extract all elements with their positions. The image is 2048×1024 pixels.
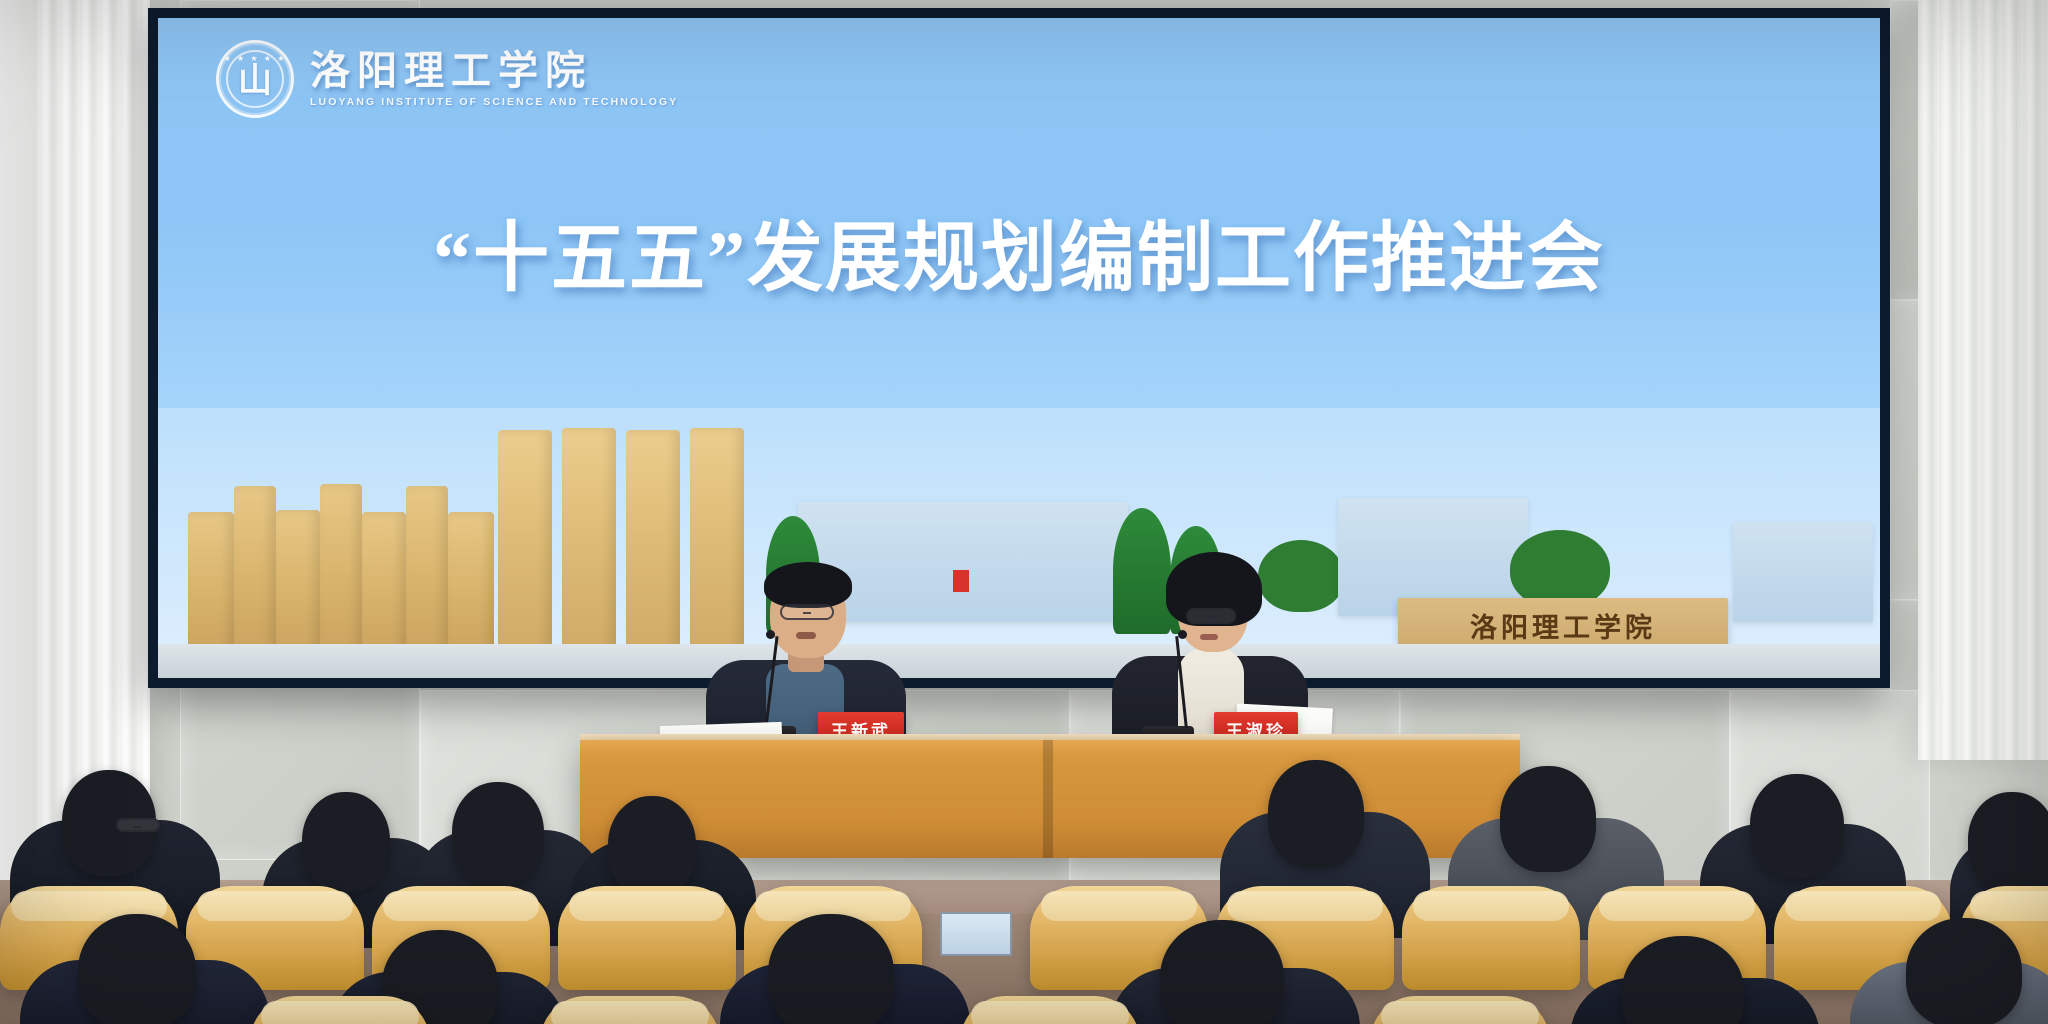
speaker-left-hair	[764, 562, 852, 608]
university-name-cn: 洛阳理工学院	[310, 50, 678, 92]
right-curtain	[1918, 0, 2048, 760]
audience-person-head	[768, 914, 894, 1024]
campus-column	[362, 512, 406, 662]
audience-chair[interactable]	[558, 886, 736, 990]
campus-column	[234, 486, 276, 662]
audience-chair[interactable]	[1402, 886, 1580, 990]
university-seal-icon: ★ ★ ★ ★ ★ 山	[216, 40, 294, 118]
speaker-left-glasses-icon	[780, 604, 834, 620]
head-table-seam	[1043, 740, 1053, 858]
campus-side-building	[1733, 522, 1873, 622]
campus-street	[158, 644, 1880, 678]
campus-column	[448, 512, 494, 662]
campus-tree	[1113, 508, 1171, 634]
campus-column-tall	[690, 428, 744, 662]
seal-mark: 山	[238, 65, 272, 99]
audience-person-head	[1500, 766, 1596, 872]
campus-column-tall	[562, 428, 616, 662]
curtain-edge	[0, 0, 34, 880]
campus-column	[276, 510, 320, 662]
campus-tree	[1258, 540, 1344, 612]
audience-chair[interactable]	[1370, 996, 1550, 1024]
audience-person-head	[1906, 918, 2022, 1024]
campus-column	[406, 486, 448, 662]
campus-tree	[1510, 530, 1610, 608]
speaker-left-mouth	[796, 632, 816, 639]
seal-stars: ★ ★ ★ ★ ★	[224, 54, 287, 63]
audience-laptop[interactable]	[940, 912, 1012, 956]
campus-column-tall	[498, 430, 552, 662]
audience-chair[interactable]	[540, 996, 720, 1024]
projection-screen-frame: ★ ★ ★ ★ ★ 山 洛阳理工学院 LUOYANG INSTITUTE OF …	[148, 8, 1890, 688]
audience-person-head	[452, 782, 544, 886]
audience-person-head	[608, 796, 696, 896]
audience-person-head	[1968, 792, 2048, 890]
audience-person-head	[1750, 774, 1844, 878]
campus-column-tall	[626, 430, 680, 662]
audience-chair[interactable]	[960, 996, 1140, 1024]
speaker-right-mic-head	[1178, 630, 1187, 639]
campus-main-building	[798, 502, 1128, 622]
audience-glasses-icon	[116, 818, 160, 832]
audience-person-head	[1160, 920, 1284, 1024]
projection-screen: ★ ★ ★ ★ ★ 山 洛阳理工学院 LUOYANG INSTITUTE OF …	[158, 18, 1880, 678]
campus-column	[320, 484, 362, 662]
slide-title: “十五五”发展规划编制工作推进会	[158, 196, 1880, 306]
university-logo: ★ ★ ★ ★ ★ 山 洛阳理工学院 LUOYANG INSTITUTE OF …	[216, 40, 678, 118]
audience-person-head	[302, 792, 390, 892]
speaker-left-mic-head	[766, 630, 775, 639]
campus-column	[188, 512, 234, 662]
audience-chair[interactable]	[250, 996, 430, 1024]
university-logo-text: 洛阳理工学院 LUOYANG INSTITUTE OF SCIENCE AND …	[310, 50, 678, 108]
left-curtain	[0, 0, 150, 880]
campus-flag	[953, 570, 969, 592]
conference-room-scene: ★ ★ ★ ★ ★ 山 洛阳理工学院 LUOYANG INSTITUTE OF …	[0, 0, 2048, 1024]
audience-person-head	[78, 914, 196, 1024]
university-name-en: LUOYANG INSTITUTE OF SCIENCE AND TECHNOL…	[310, 96, 678, 108]
speaker-right-glasses-icon	[1186, 608, 1236, 624]
audience-person-head	[1268, 760, 1364, 868]
speaker-right-mouth	[1200, 634, 1218, 640]
campus-photo-strip: 洛阳理工学院	[158, 408, 1880, 678]
